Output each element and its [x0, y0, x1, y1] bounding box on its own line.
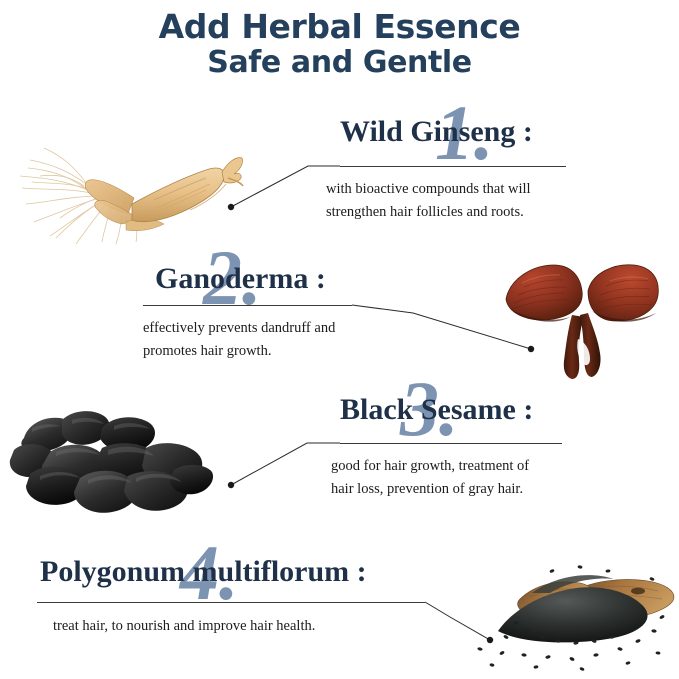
- item-2-description-line-2: promotes hair growth.: [143, 340, 271, 363]
- black-sesame-seeds-scoop-photo: [462, 545, 676, 675]
- item-3-head: 3. Black Sesame :: [340, 394, 533, 426]
- dried-black-root-slices-photo: [6, 398, 214, 526]
- page-title: Add Herbal Essence Safe and Gentle: [0, 8, 679, 80]
- item-3-rule: [340, 443, 562, 444]
- item-wild-ginseng: 1. Wild Ginseng : with bioactive compoun…: [340, 116, 533, 148]
- item-polygonum-multiflorum: 4. Polygonum multiflorum : treat hair, t…: [40, 556, 367, 588]
- leader-line-1: [231, 166, 340, 207]
- item-3-title: Black Sesame :: [340, 393, 533, 426]
- title-line-1: Add Herbal Essence: [0, 8, 679, 46]
- title-line-2: Safe and Gentle: [0, 46, 679, 80]
- item-2-title: Ganoderma :: [155, 262, 326, 295]
- wild-ginseng-root-photo: [4, 132, 244, 250]
- item-4-rule: [37, 602, 425, 603]
- item-2-description-line-1: effectively prevents dandruff and: [143, 317, 335, 340]
- sesame-scoop-illustration: [462, 545, 676, 675]
- item-2-head: 2. Ganoderma :: [155, 263, 326, 295]
- item-4-description-line-1: treat hair, to nourish and improve hair …: [53, 615, 315, 638]
- ginseng-illustration: [4, 132, 244, 250]
- item-ganoderma: 2. Ganoderma : effectively prevents dand…: [155, 263, 326, 295]
- item-4-head: 4. Polygonum multiflorum :: [40, 556, 367, 588]
- item-1-head: 1. Wild Ginseng :: [340, 116, 533, 148]
- infographic-poster: Add Herbal Essence Safe and Gentle: [0, 0, 679, 679]
- item-1-rule: [340, 166, 566, 167]
- item-4-title: Polygonum multiflorum :: [40, 555, 367, 588]
- item-3-description-line-1: good for hair growth, treatment of: [331, 455, 529, 478]
- leader-line-3: [231, 443, 340, 485]
- item-1-description-line-1: with bioactive compounds that will: [326, 178, 531, 201]
- black-slices-illustration: [6, 398, 214, 526]
- item-1-title: Wild Ginseng :: [340, 115, 533, 148]
- item-3-description-line-2: hair loss, prevention of gray hair.: [331, 478, 523, 501]
- ganoderma-illustration: [488, 253, 668, 386]
- item-1-description-line-2: strengthen hair follicles and roots.: [326, 201, 524, 224]
- leader-dot-3: [228, 482, 234, 488]
- ganoderma-reishi-mushroom-photo: [488, 253, 668, 386]
- item-black-sesame: 3. Black Sesame : good for hair growth, …: [340, 394, 533, 426]
- item-2-rule: [143, 305, 352, 306]
